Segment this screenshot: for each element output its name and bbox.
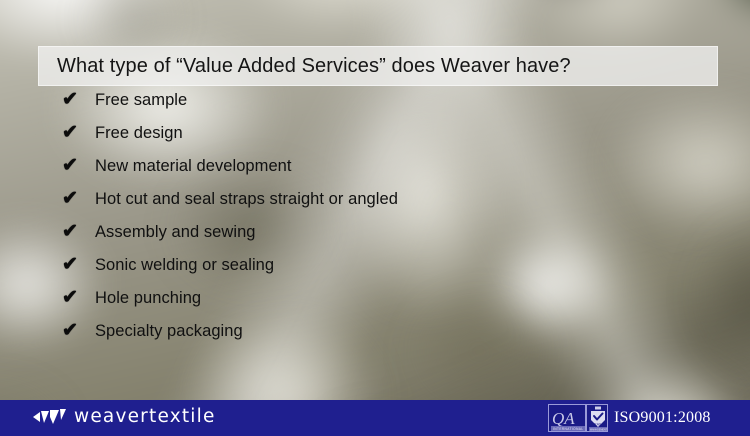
- iso-certification-badge: QA INTERNATIONAL UKAS MANAGEMENT: [548, 403, 711, 433]
- list-item-label: New material development: [95, 157, 292, 176]
- list-item: ✔ Specialty packaging: [62, 321, 702, 354]
- list-item-label: Sonic welding or sealing: [95, 256, 274, 275]
- list-item: ✔ Assembly and sewing: [62, 222, 702, 255]
- slide-title: What type of “Value Added Services” does…: [57, 55, 571, 78]
- ukas-accreditation-logo-icon: UKAS MANAGEMENT: [586, 404, 608, 432]
- checkmark-icon: ✔: [62, 288, 95, 307]
- brand-name: weavertextile: [74, 406, 216, 427]
- iso-standard-label: ISO9001:2008: [614, 409, 711, 427]
- list-item: ✔ Free design: [62, 123, 702, 156]
- checkmark-icon: ✔: [62, 156, 95, 175]
- list-item-label: Hole punching: [95, 289, 201, 308]
- list-item-label: Hot cut and seal straps straight or angl…: [95, 190, 398, 209]
- checkmark-icon: ✔: [62, 321, 95, 340]
- qa-logo-glyph: QA INTERNATIONAL: [549, 405, 586, 432]
- checkmark-icon: ✔: [62, 123, 95, 142]
- slide-title-panel: What type of “Value Added Services” does…: [38, 46, 718, 86]
- list-item-label: Assembly and sewing: [95, 223, 256, 242]
- bullet-list: ✔ Free sample ✔ Free design ✔ New materi…: [62, 90, 702, 354]
- weaver-w-mark-icon: [33, 408, 67, 426]
- list-item-label: Free design: [95, 124, 183, 143]
- list-item-label: Free sample: [95, 91, 187, 110]
- checkmark-icon: ✔: [62, 255, 95, 274]
- certification-marks: QA INTERNATIONAL UKAS MANAGEMENT: [548, 404, 608, 432]
- qa-international-logo-icon: QA INTERNATIONAL: [548, 404, 586, 432]
- svg-text:UKAS: UKAS: [592, 423, 602, 427]
- presentation-slide: What type of “Value Added Services” does…: [0, 0, 750, 436]
- ukas-glyph: UKAS MANAGEMENT: [587, 405, 608, 432]
- svg-text:INTERNATIONAL: INTERNATIONAL: [553, 427, 583, 431]
- list-item: ✔ Free sample: [62, 90, 702, 123]
- list-item: ✔ Hot cut and seal straps straight or an…: [62, 189, 702, 222]
- svg-text:QA: QA: [552, 409, 575, 428]
- list-item: ✔ New material development: [62, 156, 702, 189]
- list-item-label: Specialty packaging: [95, 322, 243, 341]
- brand-logo: weavertextile: [33, 406, 216, 427]
- checkmark-icon: ✔: [62, 189, 95, 208]
- list-item: ✔ Sonic welding or sealing: [62, 255, 702, 288]
- checkmark-icon: ✔: [62, 90, 95, 109]
- svg-text:MANAGEMENT: MANAGEMENT: [590, 429, 608, 432]
- checkmark-icon: ✔: [62, 222, 95, 241]
- list-item: ✔ Hole punching: [62, 288, 702, 321]
- footer-bar: weavertextile QA INTERNATIONAL UKA: [0, 400, 750, 436]
